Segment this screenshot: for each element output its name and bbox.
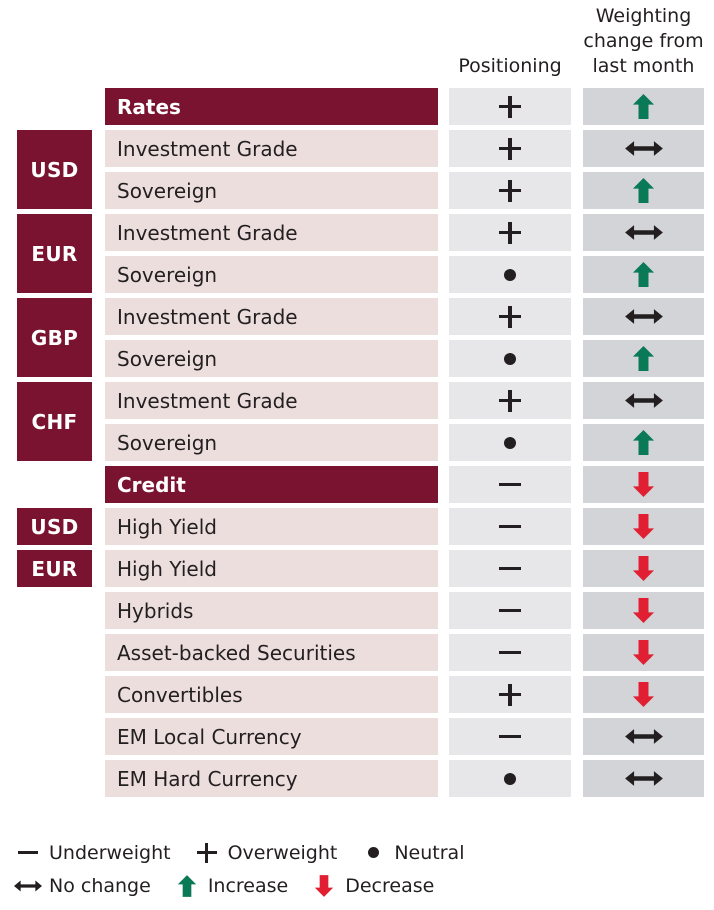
weighting-change-cell [583, 256, 704, 293]
no-change-arrow-shape [625, 392, 663, 409]
legend-item: Neutral [359, 842, 464, 864]
decrease-icon [632, 556, 655, 581]
positioning-cell [449, 172, 571, 209]
legend-row-positioning: UnderweightOverweightNeutral [14, 836, 704, 869]
decrease-arrow-shape [632, 682, 655, 707]
decrease-arrow-shape [632, 598, 655, 623]
positioning-cell [449, 592, 571, 629]
asset-class-label: Asset-backed Securities [105, 634, 438, 671]
weighting-change-cell [583, 382, 704, 419]
section-header-row: Rates [0, 88, 714, 125]
no-change-icon [625, 140, 663, 157]
underweight-icon [499, 726, 521, 748]
positioning-cell [449, 508, 571, 545]
decrease-icon [632, 514, 655, 539]
no-change-icon [625, 770, 663, 787]
underweight-icon [499, 642, 521, 664]
weighting-change-cell [583, 424, 704, 461]
decrease-icon [632, 682, 655, 707]
positioning-cell [449, 88, 571, 125]
legend-increase-icon [173, 875, 201, 897]
table-row: CHFInvestment Grade [0, 382, 714, 419]
overweight-icon [499, 684, 521, 706]
section-header-row: Credit [0, 466, 714, 503]
no-change-arrow-shape [14, 878, 42, 894]
legend-item-label: Decrease [345, 875, 434, 897]
asset-class-label: Sovereign [105, 340, 438, 377]
decrease-arrow-shape [632, 556, 655, 581]
increase-icon [632, 94, 655, 119]
no-change-icon [625, 308, 663, 325]
legend-item: Decrease [310, 875, 434, 897]
overweight-icon [499, 222, 521, 244]
positioning-cell [449, 466, 571, 503]
weighting-change-cell [583, 172, 704, 209]
table-row: GBPInvestment Grade [0, 298, 714, 335]
no-change-arrow-shape [625, 770, 663, 787]
header-positioning: Positioning [449, 54, 571, 79]
decrease-arrow-shape [632, 514, 655, 539]
table-row: EM Local Currency [0, 718, 714, 755]
no-change-arrow-shape [625, 224, 663, 241]
legend-item-label: Underweight [49, 842, 171, 864]
increase-icon [632, 430, 655, 455]
legend-item: No change [14, 875, 151, 897]
positioning-cell [449, 634, 571, 671]
decrease-arrow-shape [632, 640, 655, 665]
positioning-cell [449, 424, 571, 461]
legend-item: Increase [173, 875, 288, 897]
header-weighting-change: Weighting change from last month [583, 4, 704, 79]
table-row: EM Hard Currency [0, 760, 714, 797]
increase-arrow-shape [632, 262, 655, 287]
header-weighting-line-3: last month [583, 54, 704, 79]
weighting-change-cell [583, 550, 704, 587]
increase-arrow-shape [632, 178, 655, 203]
decrease-arrow-shape [632, 472, 655, 497]
no-change-icon [625, 728, 663, 745]
neutral-icon [504, 437, 516, 449]
asset-class-label: High Yield [105, 550, 438, 587]
positioning-cell [449, 676, 571, 713]
asset-class-label: Investment Grade [105, 382, 438, 419]
overweight-icon [499, 390, 521, 412]
table-row: Asset-backed Securities [0, 634, 714, 671]
no-change-arrow-shape [625, 308, 663, 325]
neutral-icon [504, 269, 516, 281]
no-change-arrow-shape [625, 140, 663, 157]
no-change-icon [625, 224, 663, 241]
weighting-change-cell [583, 298, 704, 335]
positioning-cell [449, 298, 571, 335]
legend-item: Underweight [14, 842, 171, 864]
currency-badge-usd: USD [17, 508, 92, 545]
column-headers: Positioning Weighting change from last m… [0, 0, 714, 88]
legend-item: Overweight [193, 842, 338, 864]
no-change-arrow-shape [625, 728, 663, 745]
table-row: Sovereign [0, 424, 714, 461]
overweight-icon [499, 180, 521, 202]
positioning-cell [449, 550, 571, 587]
increase-arrow-shape [177, 875, 197, 897]
weighting-change-cell [583, 676, 704, 713]
table-row: Sovereign [0, 172, 714, 209]
positioning-cell [449, 214, 571, 251]
asset-class-label: Sovereign [105, 424, 438, 461]
weighting-change-cell [583, 88, 704, 125]
legend-overweight-icon [193, 843, 221, 863]
asset-class-label: Sovereign [105, 172, 438, 209]
positioning-cell [449, 340, 571, 377]
asset-class-label: EM Local Currency [105, 718, 438, 755]
decrease-arrow-shape [314, 875, 334, 897]
asset-class-label: Hybrids [105, 592, 438, 629]
overweight-icon [499, 138, 521, 160]
neutral-icon [504, 773, 516, 785]
currency-badge-eur: EUR [17, 550, 92, 587]
asset-class-label: High Yield [105, 508, 438, 545]
legend-item-label: Increase [208, 875, 288, 897]
legend-decrease-icon [310, 875, 338, 897]
header-weighting-line-2: change from [583, 29, 704, 54]
underweight-icon [499, 600, 521, 622]
underweight-icon [499, 558, 521, 580]
no-change-icon [625, 392, 663, 409]
weighting-change-cell [583, 214, 704, 251]
weighting-change-cell [583, 634, 704, 671]
positioning-cell [449, 130, 571, 167]
asset-class-label: Investment Grade [105, 130, 438, 167]
weighting-change-cell [583, 508, 704, 545]
asset-class-label: Investment Grade [105, 298, 438, 335]
weighting-change-cell [583, 592, 704, 629]
table-row: Hybrids [0, 592, 714, 629]
positioning-cell [449, 256, 571, 293]
asset-class-label: Sovereign [105, 256, 438, 293]
header-weighting-line-1: Weighting [583, 4, 704, 29]
decrease-icon [632, 598, 655, 623]
increase-arrow-shape [632, 346, 655, 371]
table-row: Sovereign [0, 340, 714, 377]
legend-item-label: Overweight [228, 842, 338, 864]
increase-icon [632, 178, 655, 203]
table-row: EURHigh Yield [0, 550, 714, 587]
overweight-icon [499, 96, 521, 118]
table-row: USDHigh Yield [0, 508, 714, 545]
table-row: Convertibles [0, 676, 714, 713]
underweight-icon [499, 516, 521, 538]
positioning-matrix: Rates USDInvestment Grade Sovereign EURI… [0, 88, 714, 802]
asset-class-label: Investment Grade [105, 214, 438, 251]
legend-neutral-icon [359, 847, 387, 858]
decrease-icon [632, 472, 655, 497]
weighting-change-cell [583, 760, 704, 797]
legend: UnderweightOverweightNeutral No change I… [14, 836, 704, 902]
legend-no-change-icon [14, 878, 42, 894]
asset-class-label: Convertibles [105, 676, 438, 713]
increase-arrow-shape [632, 94, 655, 119]
legend-item-label: No change [49, 875, 151, 897]
section-title: Credit [105, 466, 438, 503]
weighting-change-cell [583, 718, 704, 755]
positioning-cell [449, 382, 571, 419]
decrease-icon [632, 640, 655, 665]
table-row: USDInvestment Grade [0, 130, 714, 167]
increase-icon [632, 346, 655, 371]
table-row: Sovereign [0, 256, 714, 293]
positioning-cell [449, 718, 571, 755]
legend-underweight-icon [14, 843, 42, 863]
underweight-icon [499, 474, 521, 496]
legend-item-label: Neutral [394, 842, 464, 864]
positioning-cell [449, 760, 571, 797]
table-row: EURInvestment Grade [0, 214, 714, 251]
weighting-change-cell [583, 340, 704, 377]
weighting-change-cell [583, 466, 704, 503]
neutral-icon [504, 353, 516, 365]
weighting-change-cell [583, 130, 704, 167]
asset-class-label: EM Hard Currency [105, 760, 438, 797]
section-title: Rates [105, 88, 438, 125]
increase-icon [632, 262, 655, 287]
overweight-icon [499, 306, 521, 328]
legend-row-weighting: No change Increase Decrease [14, 869, 704, 902]
increase-arrow-shape [632, 430, 655, 455]
